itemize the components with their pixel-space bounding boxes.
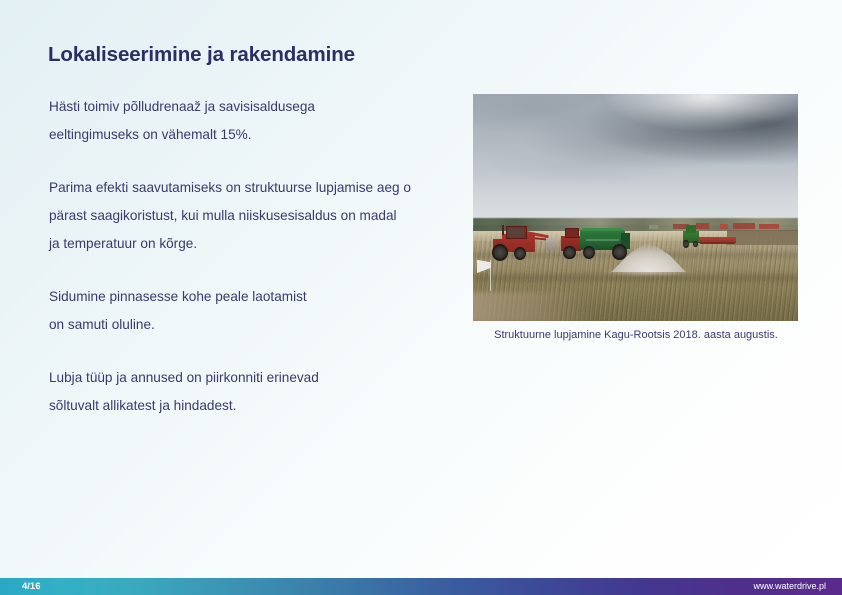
- tractor-rear-wheel: [492, 244, 508, 261]
- paragraph-2-line-3: ja temperatuur on kõrge.: [49, 230, 469, 258]
- paragraph-4-line-2: sõltuvalt allikatest ja hindadest.: [49, 392, 469, 420]
- field-photograph: [473, 94, 798, 321]
- paragraph-2-line-1: Parima efekti saavutamiseks on struktuur…: [49, 174, 469, 202]
- distant-tractor-with-implement: [683, 229, 738, 248]
- page-number: 4/16: [22, 578, 41, 595]
- spreader-tractor-wheel: [563, 246, 576, 260]
- field-track: [473, 292, 610, 321]
- loader-bucket: [546, 238, 558, 250]
- tractor-front-wheel: [514, 247, 526, 260]
- paragraph-1-line-1: Hästi toimiv põlludrenaaž ja savisisaldu…: [49, 93, 469, 121]
- paragraph-1-line-2: eeltingimuseks on vähemalt 15%.: [49, 121, 469, 149]
- page-title: Lokaliseerimine ja rakendamine: [48, 43, 355, 67]
- figure-caption: Struktuurne lupjamine Kagu-Rootsis 2018.…: [473, 329, 799, 341]
- red-tractor-with-loader: [484, 225, 565, 264]
- spreader-wheel: [612, 244, 627, 260]
- sky: [473, 94, 798, 225]
- paragraph-4: Lubja tüüp ja annused on piirkonniti eri…: [49, 364, 469, 420]
- paragraph-3: Sidumine pinnasesse kohe peale laotamist…: [49, 283, 469, 339]
- green-lime-spreader: [561, 227, 652, 263]
- paragraph-1: Hästi toimiv põlludrenaaž ja savisisaldu…: [49, 93, 469, 149]
- implement-toolbar: [700, 242, 734, 244]
- spreader-stripe: [586, 239, 619, 241]
- tractor-cab-window: [508, 228, 524, 237]
- tractor-exhaust: [502, 225, 504, 235]
- spreader-hopper-rim: [582, 228, 622, 231]
- body-text-block: Hästi toimiv põlludrenaaž ja savisisaldu…: [49, 93, 469, 420]
- figure-image: [473, 94, 798, 321]
- slide: Lokaliseerimine ja rakendamine Hästi toi…: [0, 0, 842, 595]
- farm-building: [696, 223, 710, 228]
- marker-flag-icon: [477, 260, 500, 292]
- farm-building: [733, 223, 755, 229]
- paragraph-2: Parima efekti saavutamiseks on struktuur…: [49, 174, 469, 258]
- paragraph-3-line-2: on samuti oluline.: [49, 311, 469, 339]
- footer-url[interactable]: www.waterdrive.pl: [753, 578, 826, 595]
- farm-building: [759, 224, 779, 229]
- paragraph-4-line-1: Lubja tüüp ja annused on piirkonniti eri…: [49, 364, 469, 392]
- paragraph-3-line-1: Sidumine pinnasesse kohe peale laotamist: [49, 283, 469, 311]
- farm-building: [720, 224, 728, 229]
- spreader-wheel: [583, 246, 596, 260]
- distant-tractor-wheel: [693, 241, 698, 248]
- footer-bar: 4/16 www.waterdrive.pl: [0, 578, 842, 595]
- spreader-tractor-cab: [565, 228, 579, 239]
- distant-tractor-cab: [686, 225, 696, 233]
- distant-tractor-wheel: [683, 240, 689, 248]
- paragraph-2-line-2: pärast saagikoristust, kui mulla niiskus…: [49, 202, 469, 230]
